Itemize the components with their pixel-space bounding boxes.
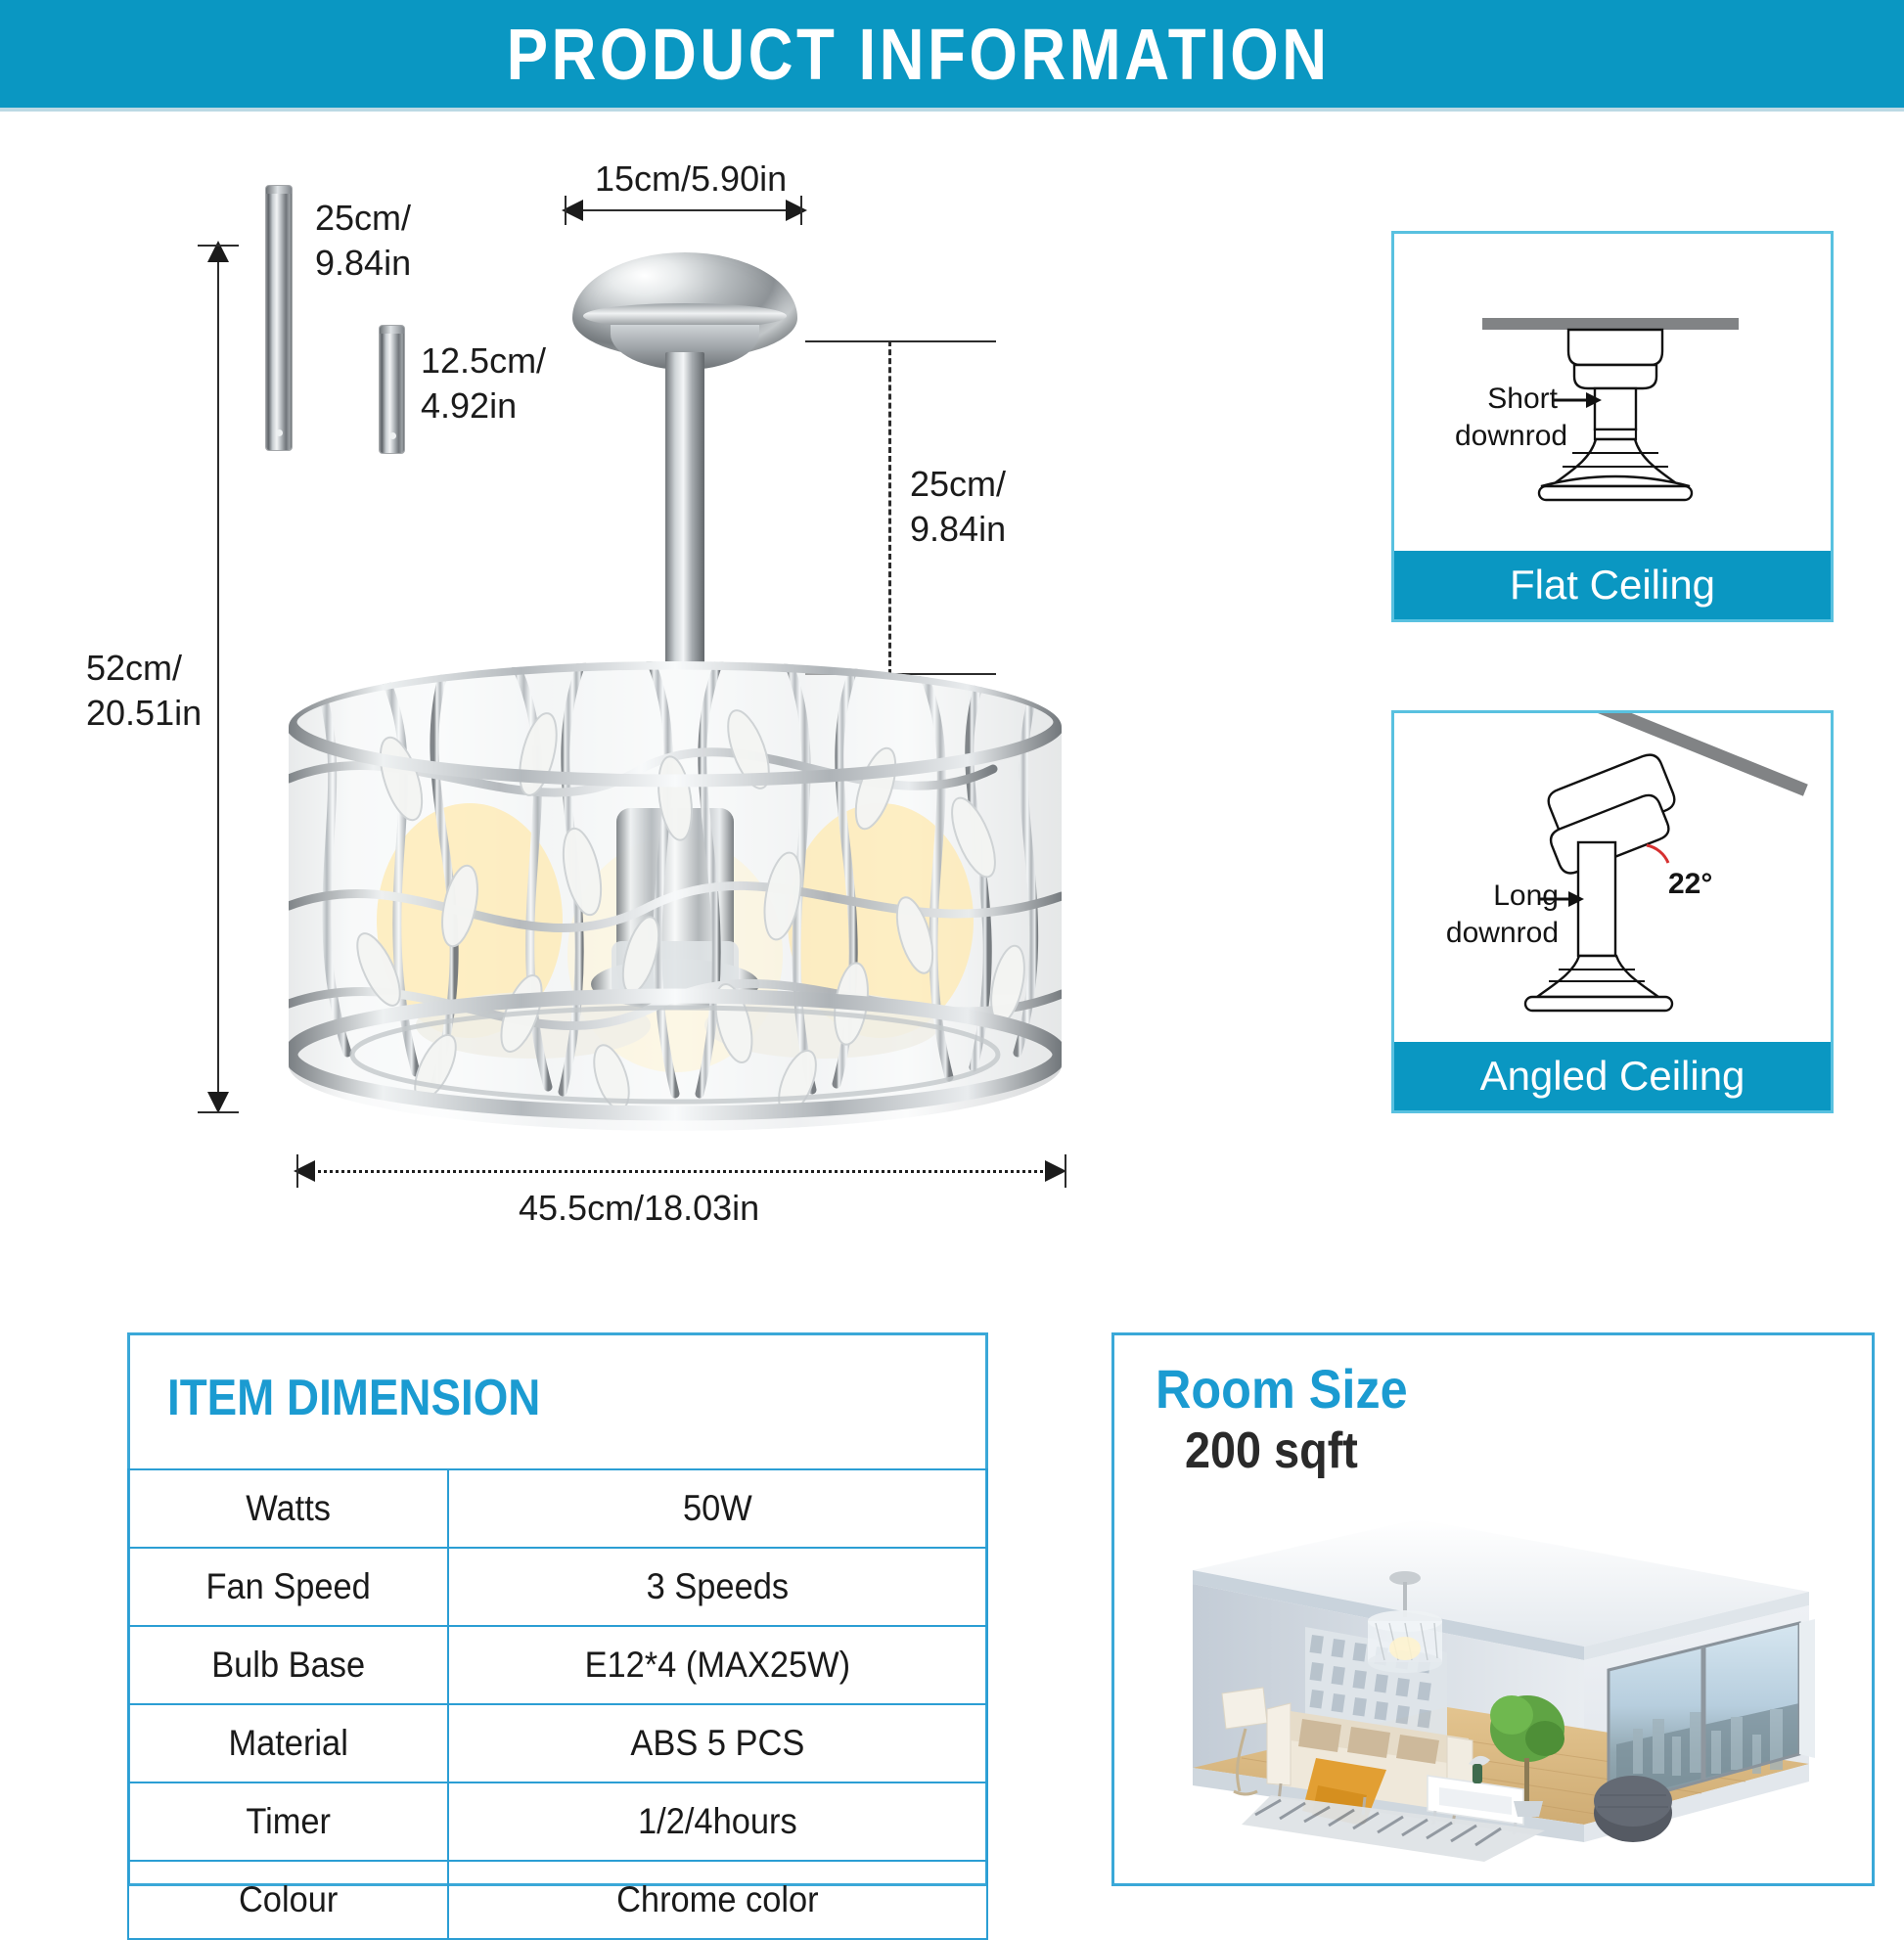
flat-ceiling-rod-label: Short downrod — [1455, 381, 1558, 455]
canopy-width-tick-right — [800, 196, 802, 225]
total-height-measure-line — [217, 252, 219, 1113]
room-render-icon — [1124, 1502, 1868, 1879]
room-size-panel: Room Size 200 sqft — [1111, 1332, 1875, 1886]
canopy-width-arrow-right — [786, 200, 807, 221]
spec-key: Watts — [139, 1469, 436, 1548]
angled-ceiling-rod-label: Long downrod — [1439, 878, 1559, 952]
total-width-tick-left — [296, 1154, 298, 1188]
table-row: Material ABS 5 PCS — [128, 1704, 987, 1782]
flat-ceiling-caption: Flat Ceiling — [1394, 551, 1831, 619]
item-dimension-panel: ITEM DIMENSION Watts 50W Fan Speed 3 Spe… — [127, 1332, 988, 1886]
drum-cage — [289, 661, 1062, 1131]
drop-height-label: 25cm/ 9.84in — [910, 462, 1006, 552]
spec-key: Material — [139, 1704, 436, 1782]
total-height-tick-top — [198, 245, 239, 247]
total-width-tick-right — [1065, 1154, 1066, 1188]
room-scene-image — [1124, 1502, 1868, 1879]
table-row: Fan Speed 3 Speeds — [128, 1548, 987, 1626]
header-divider — [0, 108, 1904, 112]
product-information-page: PRODUCT INFORMATION 25cm/ 9.84in 12.5cm/… — [0, 0, 1904, 1904]
mount-option-flat-ceiling[interactable]: Short downrod Flat Ceiling — [1391, 231, 1834, 622]
spec-table-body: Watts 50W Fan Speed 3 Speeds Bulb Base E… — [128, 1469, 987, 1939]
spec-value: 50W — [468, 1469, 969, 1548]
item-dimension-title: ITEM DIMENSION — [167, 1369, 540, 1427]
spec-key: Timer — [139, 1782, 436, 1861]
mount-option-angled-ceiling[interactable]: Long downrod 22° Angled Ceiling — [1391, 710, 1834, 1113]
canopy-width-measure-line — [572, 209, 795, 211]
total-width-arrow-right — [1045, 1160, 1066, 1182]
table-row: Bulb Base E12*4 (MAX25W) — [128, 1626, 987, 1704]
table-row: Timer 1/2/4hours — [128, 1782, 987, 1861]
total-height-tick-bottom — [198, 1111, 239, 1113]
spec-key: Colour — [139, 1861, 436, 1939]
room-size-title: Room Size — [1156, 1357, 1408, 1421]
total-width-measure-line — [311, 1170, 1051, 1173]
drop-leader-top — [805, 340, 996, 342]
page-header-banner: PRODUCT INFORMATION — [0, 0, 1904, 108]
spec-key: Fan Speed — [139, 1548, 436, 1626]
spec-value: E12*4 (MAX25W) — [468, 1626, 969, 1704]
total-width-label: 45.5cm/18.03in — [519, 1186, 759, 1231]
spec-key: Bulb Base — [139, 1626, 436, 1704]
canopy-width-label: 15cm/5.90in — [595, 157, 787, 202]
cage-pattern-icon — [289, 661, 1062, 1131]
angled-ceiling-caption: Angled Ceiling — [1394, 1042, 1831, 1110]
downrod-short-sample — [380, 326, 404, 453]
page-title: PRODUCT INFORMATION — [133, 0, 1771, 108]
downrod-installed — [665, 352, 704, 665]
room-size-value: 200 sqft — [1185, 1421, 1358, 1480]
downrod-short-label: 12.5cm/ 4.92in — [421, 338, 546, 429]
spec-value: ABS 5 PCS — [468, 1704, 969, 1782]
total-height-label: 52cm/ 20.51in — [86, 646, 202, 736]
total-height-arrow-bottom — [207, 1092, 229, 1113]
table-row: Colour Chrome color — [128, 1861, 987, 1939]
table-row: Watts 50W — [128, 1469, 987, 1548]
spec-value: Chrome color — [468, 1861, 969, 1939]
item-dimension-table: Watts 50W Fan Speed 3 Speeds Bulb Base E… — [127, 1468, 988, 1940]
downrod-long-label: 25cm/ 9.84in — [315, 196, 411, 286]
angled-ceiling-angle-label: 22° — [1668, 868, 1712, 901]
downrod-long-sample — [266, 186, 292, 450]
drop-height-dashed-line — [888, 340, 891, 675]
spec-value: 3 Speeds — [468, 1548, 969, 1626]
spec-value: 1/2/4hours — [468, 1782, 969, 1861]
canopy-width-tick-left — [565, 196, 567, 225]
